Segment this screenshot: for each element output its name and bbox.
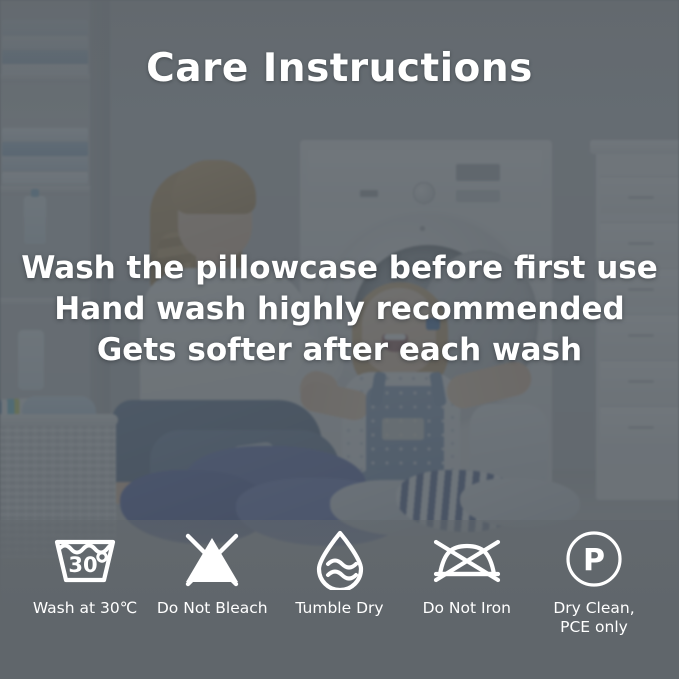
care-instructions-card: CareInstructions Wash the pillowcase bef… — [0, 0, 679, 679]
care-symbol-dry-clean: P Dry Clean, PCE only — [531, 528, 657, 637]
care-symbol-wash: 30 Wash at 30℃ — [22, 528, 148, 618]
tumble-dry-icon — [304, 528, 376, 590]
svg-text:30: 30 — [68, 553, 97, 577]
care-symbol-label: Tumble Dry — [295, 599, 383, 618]
instruction-line-3: Gets softer after each wash — [0, 330, 679, 371]
do-not-bleach-icon — [176, 528, 248, 590]
instruction-line-1: Wash the pillowcase before first use — [0, 248, 679, 289]
do-not-iron-icon — [428, 528, 506, 590]
care-symbol-label: Do Not Iron — [423, 599, 511, 618]
care-symbol-row: 30 Wash at 30℃ Do Not Bleach — [0, 528, 679, 658]
page-title: CareInstructions — [0, 46, 679, 91]
care-symbol-label: Wash at 30℃ — [33, 599, 137, 618]
instruction-list: Wash the pillowcase before first use Han… — [0, 248, 679, 371]
care-symbol-iron: Do Not Iron — [404, 528, 530, 618]
care-symbol-label: Dry Clean, PCE only — [553, 599, 634, 637]
title-word-instructions: Instructions — [263, 46, 533, 91]
care-symbol-label: Do Not Bleach — [157, 599, 268, 618]
wash-tub-30-icon: 30 — [49, 528, 121, 590]
title-word-care: Care — [146, 46, 249, 91]
care-symbol-tumble-dry: Tumble Dry — [277, 528, 403, 618]
care-symbol-bleach: Do Not Bleach — [149, 528, 275, 618]
dry-clean-p-icon: P — [562, 528, 626, 590]
dry-clean-letter: P — [583, 543, 605, 578]
instruction-line-2: Hand wash highly recommended — [0, 289, 679, 330]
